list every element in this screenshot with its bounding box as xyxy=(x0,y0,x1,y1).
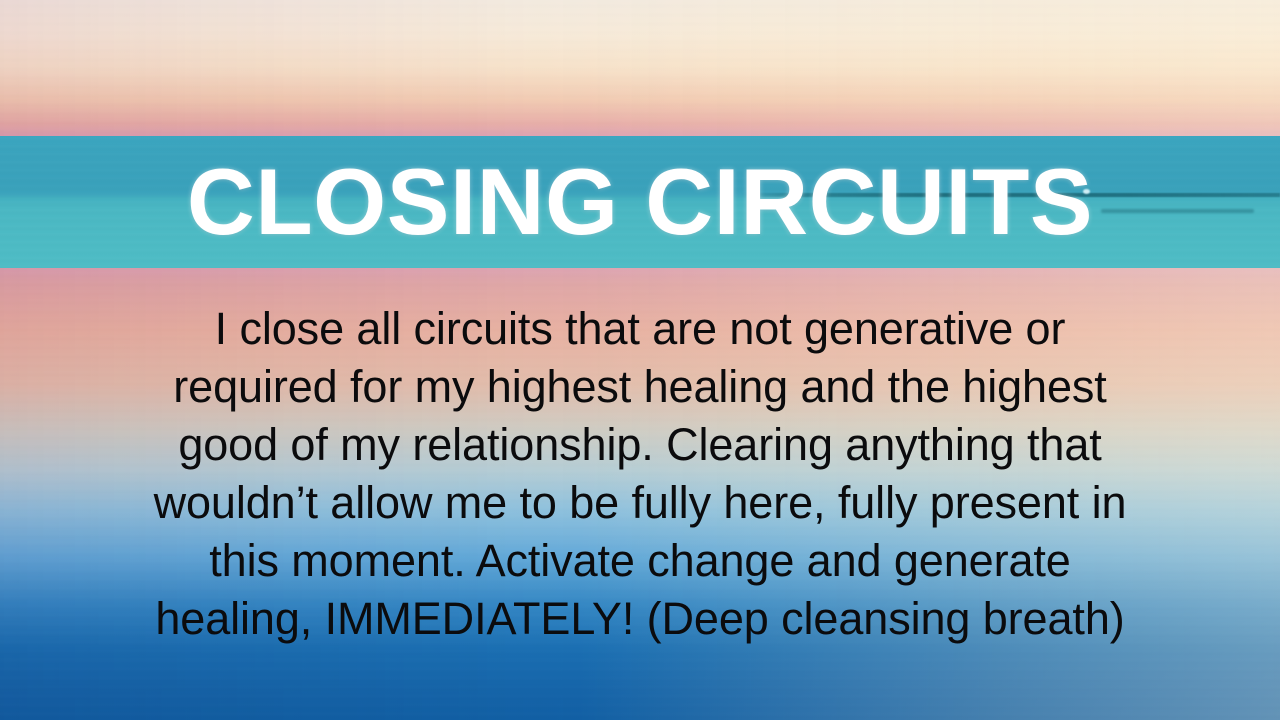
body-line: wouldn’t allow me to be fully here, full… xyxy=(0,474,1280,532)
body-line: required for my highest healing and the … xyxy=(0,358,1280,416)
slide-title: CLOSING CIRCUITS xyxy=(0,155,1280,249)
slide-canvas: CLOSING CIRCUITS I close all circuits th… xyxy=(0,0,1280,720)
body-line: good of my relationship. Clearing anythi… xyxy=(0,416,1280,474)
body-line: healing, IMMEDIATELY! (Deep cleansing br… xyxy=(0,590,1280,648)
slide-body-text: I close all circuits that are not genera… xyxy=(0,300,1280,648)
body-line: I close all circuits that are not genera… xyxy=(0,300,1280,358)
title-banner: CLOSING CIRCUITS xyxy=(0,136,1280,268)
body-line: this moment. Activate change and generat… xyxy=(0,532,1280,590)
